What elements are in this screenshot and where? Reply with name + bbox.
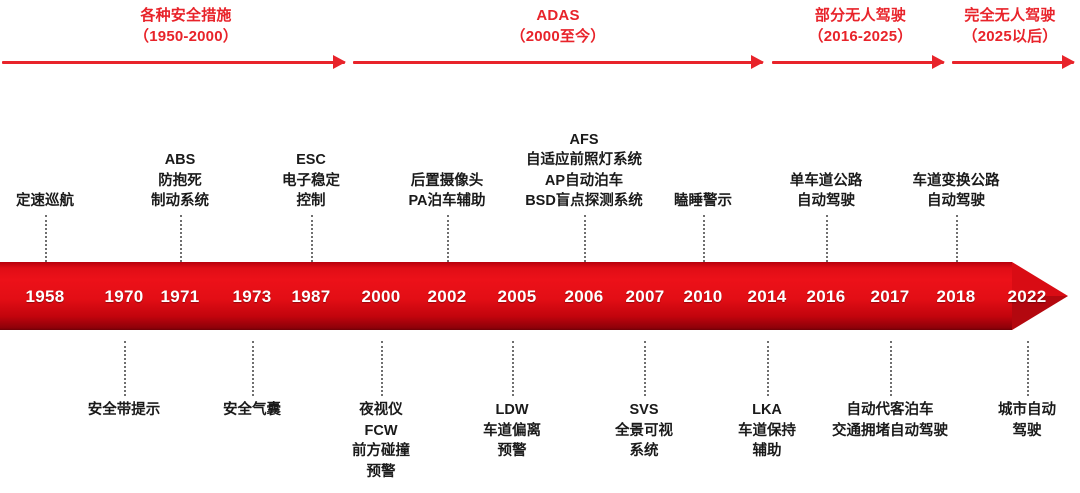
year-label-1987: 1987 — [291, 287, 330, 307]
event-label-line: 车道保持 — [738, 421, 796, 442]
arrow-head-icon — [751, 55, 764, 69]
phase-title: ADAS — [458, 6, 658, 27]
event-label-line: 预警 — [483, 441, 541, 462]
phase-range: （1950-2000） — [86, 27, 286, 48]
event-label-1958: 定速巡航 — [16, 191, 74, 212]
event-label-line: 防抱死 — [151, 171, 209, 192]
event-label-2006: AFS自适应前照灯系统AP自动泊车BSD盲点探测系统 — [525, 130, 643, 212]
event-label-line: 电子稳定 — [282, 171, 340, 192]
event-label-line: 系统 — [615, 441, 673, 462]
connector-line-1970 — [124, 341, 126, 396]
arrow-shaft — [2, 61, 345, 64]
year-label-1971: 1971 — [160, 287, 199, 307]
connector-line-2007 — [644, 341, 646, 396]
connector-line-2010 — [703, 215, 705, 262]
year-label-2002: 2002 — [427, 287, 466, 307]
event-label-line: PA泊车辅助 — [408, 191, 485, 212]
year-label-1973: 1973 — [232, 287, 271, 307]
event-label-line: 安全气囊 — [223, 400, 281, 421]
phase-arrow-0 — [2, 57, 345, 69]
connector-line-2014 — [767, 341, 769, 396]
event-label-line: 车道偏离 — [483, 421, 541, 442]
year-label-2007: 2007 — [625, 287, 664, 307]
event-label-line: LDW — [483, 400, 541, 421]
connector-line-2005 — [512, 341, 514, 396]
event-label-line: 定速巡航 — [16, 191, 74, 212]
year-label-2010: 2010 — [683, 287, 722, 307]
event-label-line: 夜视仪 — [352, 400, 410, 421]
arrow-shaft — [772, 61, 944, 64]
event-label-2017: 自动代客泊车交通拥堵自动驾驶 — [832, 400, 948, 441]
timeline-infographic: 各种安全措施 （1950-2000） ADAS （2000至今） 部分无人驾驶 … — [0, 0, 1080, 493]
event-label-1971: ABS防抱死制动系统 — [151, 150, 209, 212]
connector-line-2000 — [381, 341, 383, 396]
event-label-line: 全景可视 — [615, 421, 673, 442]
event-label-line: 交通拥堵自动驾驶 — [832, 421, 948, 442]
event-label-line: LKA — [738, 400, 796, 421]
connector-line-1973 — [252, 341, 254, 396]
event-label-line: 驾驶 — [998, 421, 1056, 442]
phase-header-1: ADAS （2000至今） — [458, 6, 658, 47]
connector-line-2022 — [1027, 341, 1029, 396]
event-label-line: SVS — [615, 400, 673, 421]
event-label-line: 预警 — [352, 462, 410, 483]
event-label-line: 自动代客泊车 — [832, 400, 948, 421]
event-label-2016: 单车道公路自动驾驶 — [790, 171, 863, 212]
arrow-shaft — [353, 61, 763, 64]
arrow-head-icon — [932, 55, 945, 69]
phase-arrow-1 — [353, 57, 763, 69]
phase-range: （2016-2025） — [783, 27, 938, 48]
event-label-line: 制动系统 — [151, 191, 209, 212]
event-label-2005: LDW车道偏离预警 — [483, 400, 541, 462]
event-label-2002: 后置摄像头PA泊车辅助 — [408, 171, 485, 212]
arrow-shaft — [952, 61, 1074, 64]
year-label-2014: 2014 — [747, 287, 786, 307]
phase-range: （2025以后） — [940, 27, 1080, 48]
event-label-2014: LKA车道保持辅助 — [738, 400, 796, 462]
event-label-line: 瞌睡警示 — [674, 191, 732, 212]
event-label-line: 自适应前照灯系统 — [525, 150, 643, 171]
connector-line-1987 — [311, 215, 313, 262]
event-label-line: AFS — [525, 130, 643, 151]
year-label-2005: 2005 — [497, 287, 536, 307]
year-label-2017: 2017 — [870, 287, 909, 307]
arrow-head-icon — [1062, 55, 1075, 69]
event-label-line: 前方碰撞 — [352, 441, 410, 462]
phase-header-3: 完全无人驾驶 （2025以后） — [940, 6, 1080, 47]
year-label-2006: 2006 — [564, 287, 603, 307]
event-label-2018: 车道变换公路自动驾驶 — [913, 171, 1000, 212]
connector-line-2018 — [956, 215, 958, 262]
event-label-line: ESC — [282, 150, 340, 171]
event-label-2007: SVS全景可视系统 — [615, 400, 673, 462]
connector-line-1958 — [45, 215, 47, 262]
connector-line-2006 — [584, 215, 586, 262]
event-label-line: AP自动泊车 — [525, 171, 643, 192]
event-label-line: 后置摄像头 — [408, 171, 485, 192]
event-label-line: 安全带提示 — [88, 400, 161, 421]
phase-title: 各种安全措施 — [86, 6, 286, 27]
event-label-line: 控制 — [282, 191, 340, 212]
event-label-2022: 城市自动驾驶 — [998, 400, 1056, 441]
year-label-2000: 2000 — [361, 287, 400, 307]
event-label-line: BSD盲点探测系统 — [525, 191, 643, 212]
event-label-2010: 瞌睡警示 — [674, 191, 732, 212]
event-label-line: 自动驾驶 — [913, 191, 1000, 212]
event-label-line: 辅助 — [738, 441, 796, 462]
phase-header-0: 各种安全措施 （1950-2000） — [86, 6, 286, 47]
year-label-1970: 1970 — [104, 287, 143, 307]
arrow-head-icon — [333, 55, 346, 69]
event-label-line: 城市自动 — [998, 400, 1056, 421]
connector-line-2016 — [826, 215, 828, 262]
event-label-line: ABS — [151, 150, 209, 171]
year-label-2022: 2022 — [1007, 287, 1046, 307]
phase-header-2: 部分无人驾驶 （2016-2025） — [783, 6, 938, 47]
event-label-line: 单车道公路 — [790, 171, 863, 192]
event-label-line: 自动驾驶 — [790, 191, 863, 212]
event-label-2000: 夜视仪FCW前方碰撞预警 — [352, 400, 410, 482]
connector-line-1971 — [180, 215, 182, 262]
year-label-2016: 2016 — [806, 287, 845, 307]
year-label-1958: 1958 — [25, 287, 64, 307]
phase-title: 完全无人驾驶 — [940, 6, 1080, 27]
phase-title: 部分无人驾驶 — [783, 6, 938, 27]
event-label-1970: 安全带提示 — [88, 400, 161, 421]
year-label-2018: 2018 — [936, 287, 975, 307]
event-label-line: FCW — [352, 421, 410, 442]
event-label-1973: 安全气囊 — [223, 400, 281, 421]
phase-arrow-3 — [952, 57, 1074, 69]
event-label-line: 车道变换公路 — [913, 171, 1000, 192]
event-label-1987: ESC电子稳定控制 — [282, 150, 340, 212]
connector-line-2002 — [447, 215, 449, 262]
phase-range: （2000至今） — [458, 27, 658, 48]
connector-line-2017 — [890, 341, 892, 396]
phase-arrow-2 — [772, 57, 944, 69]
